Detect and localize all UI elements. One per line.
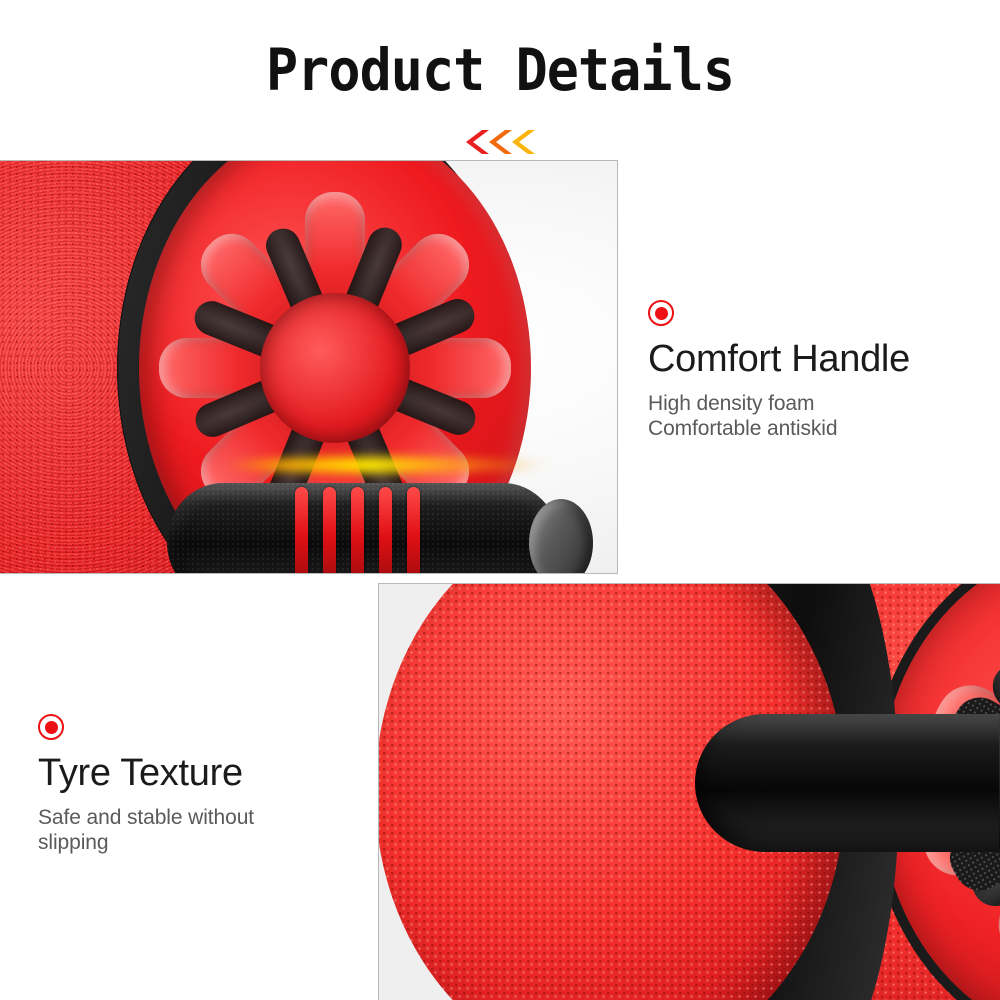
feature-tyre-texture: Tyre Texture Safe and stable without sli… (38, 714, 368, 855)
page-title: Product Details (40, 36, 960, 104)
triple-chevron-left-icon (0, 128, 1000, 160)
feature-description-line: slipping (38, 831, 368, 856)
feature-description-line: High density foam (648, 392, 988, 417)
bullet-dot-icon (38, 714, 64, 740)
feature-title: Comfort Handle (648, 340, 988, 380)
product-details-page: Product Details (0, 0, 1000, 1000)
feature-description-line: Safe and stable without (38, 806, 368, 831)
feature-description: Safe and stable without slipping (38, 806, 368, 856)
feature-description-line: Comfortable antiskid (648, 417, 988, 442)
photo-stage-bottom (379, 584, 1000, 1000)
feature-description: High density foam Comfortable antiskid (648, 392, 988, 442)
comfort-handle-photo (0, 160, 618, 574)
feature-comfort-handle: Comfort Handle High density foam Comfort… (648, 300, 988, 441)
feature-title: Tyre Texture (38, 754, 368, 794)
handle-bar (695, 714, 1000, 852)
motion-streak-top (221, 457, 551, 473)
handle-end-cap (529, 499, 593, 573)
wheel-hub (260, 293, 410, 443)
tyre-texture-photo (378, 583, 1000, 1000)
bullet-dot-icon (648, 300, 674, 326)
foam-handle (167, 483, 587, 573)
photo-stage-top (0, 161, 617, 573)
